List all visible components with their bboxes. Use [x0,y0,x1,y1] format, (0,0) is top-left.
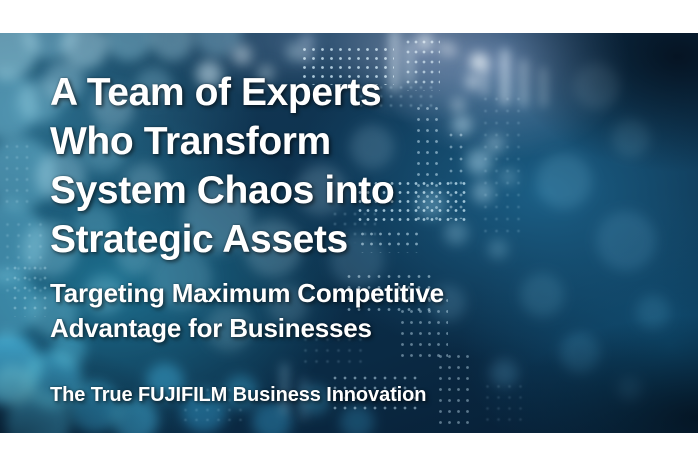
page-margin-bottom [0,433,700,467]
page-margin-top [0,0,700,33]
headline-line-1: A Team of Experts [50,68,650,117]
headline-line-4: Strategic Assets [50,215,650,264]
headline-line-3: System Chaos into [50,166,650,215]
subheadline-line-1: Targeting Maximum Competitive [50,276,650,311]
subheadline-line-2: Advantage for Businesses [50,311,650,346]
headline: A Team of Experts Who Transform System C… [50,68,650,264]
headline-line-2: Who Transform [50,117,650,166]
hero-banner: A Team of Experts Who Transform System C… [0,33,698,433]
banner-stage: A Team of Experts Who Transform System C… [0,0,700,467]
tagline: The True FUJIFILM Business Innovation [50,382,650,408]
subheadline: Targeting Maximum Competitive Advantage … [50,276,650,346]
banner-copy: A Team of Experts Who Transform System C… [50,68,650,408]
